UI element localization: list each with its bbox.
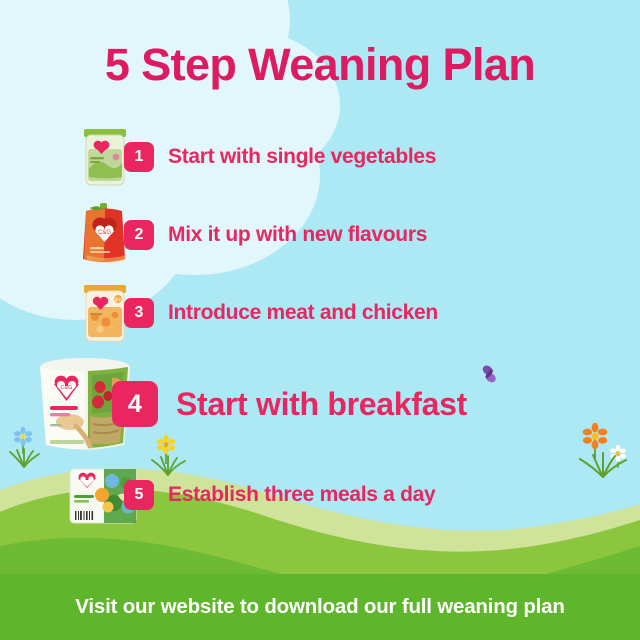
step-label: Mix it up with new flavours: [168, 223, 427, 247]
steps-list: 1 Start with single vegetables C&G: [0, 118, 640, 534]
page-title: 5 Step Weaning Plan: [0, 42, 640, 87]
step-label: Start with single vegetables: [168, 145, 436, 169]
step-number-badge: 3: [124, 298, 154, 328]
step-row-1: 1 Start with single vegetables: [0, 118, 640, 196]
step-number-badge: 1: [124, 142, 154, 172]
step-row-4: C&G 4 Start with breakfast: [0, 352, 640, 456]
step-row-3: 8m 3 Introduce meat and chicken: [0, 274, 640, 352]
footer-cta-band[interactable]: Visit our website to download our full w…: [0, 574, 640, 640]
step-row-5: 5 Establish three meals a day: [0, 456, 640, 534]
footer-cta-text: Visit our website to download our full w…: [75, 595, 564, 619]
step-number-badge: 5: [124, 480, 154, 510]
step-label: Start with breakfast: [176, 386, 467, 423]
svg-text:C&G: C&G: [98, 230, 111, 236]
step-row-2: C&G 2 Mix it up with new flavours: [0, 196, 640, 274]
svg-text:C&G: C&G: [61, 385, 73, 391]
step-label: Establish three meals a day: [168, 483, 435, 507]
step-label: Introduce meat and chicken: [168, 301, 438, 325]
svg-text:8m: 8m: [115, 297, 122, 303]
step-number-badge: 2: [124, 220, 154, 250]
step-number-badge: 4: [112, 381, 158, 427]
weaning-plan-poster: 5 Step Weaning Plan: [0, 0, 640, 640]
